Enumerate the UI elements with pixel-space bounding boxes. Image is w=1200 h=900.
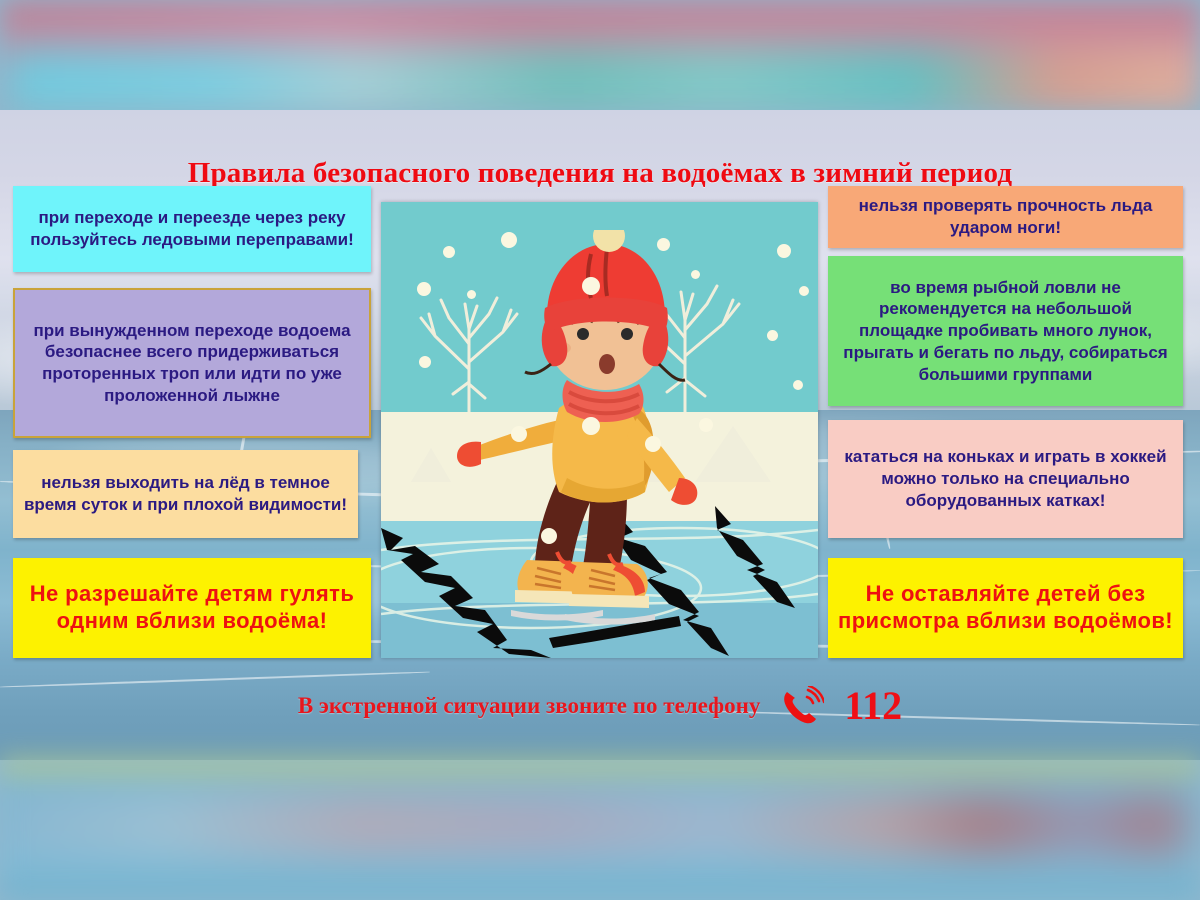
emergency-number: 112: [844, 682, 902, 729]
rule-text: во время рыбной ловли не рекомендуется н…: [838, 277, 1173, 386]
boy-figure: [441, 230, 741, 640]
rule-box-skating-rink: кататься на коньках и играть в хоккей мо…: [828, 420, 1183, 538]
rule-text: при вынужденном переходе водоема безопас…: [25, 320, 359, 407]
snowflake-icon: [793, 380, 803, 390]
emergency-call-line: В экстренной ситуации звоните по телефон…: [0, 682, 1200, 729]
rule-box-ice-crossings: при переходе и переезде через реку польз…: [13, 186, 371, 272]
boy-skating-on-cracking-ice-illustration: [381, 202, 818, 658]
warning-box-children-alone: Не разрешайте детям гулять одним вблизи …: [13, 558, 371, 658]
rule-text: кататься на коньках и играть в хоккей мо…: [838, 446, 1173, 511]
rule-text: нельзя выходить на лёд в темное время су…: [23, 472, 348, 516]
snowflake-icon: [767, 330, 778, 341]
poster-stage: Правила безопасного поведения на водоёма…: [0, 0, 1200, 900]
rule-text: нельзя проверять прочность льда ударом н…: [838, 195, 1173, 239]
rule-box-fishing: во время рыбной ловли не рекомендуется н…: [828, 256, 1183, 406]
blurred-top-letterbox-inner: [0, 46, 1200, 112]
snowflake-icon: [419, 356, 431, 368]
rule-box-forced-crossing: при вынужденном переходе водоема безопас…: [13, 288, 371, 438]
blurred-bottom-letterbox: [0, 760, 1200, 900]
blurred-top-letterbox: [0, 0, 1200, 112]
rule-box-kick-test: нельзя проверять прочность льда ударом н…: [828, 186, 1183, 248]
snowflake-icon: [417, 282, 431, 296]
emergency-text: В экстренной ситуации звоните по телефон…: [298, 693, 761, 719]
phone-ringing-icon: [780, 686, 824, 726]
snowflake-icon: [777, 244, 791, 258]
poster-body: Правила безопасного поведения на водоёма…: [0, 110, 1200, 760]
snowflake-icon: [799, 286, 809, 296]
warning-box-children-unattended: Не оставляйте детей без присмотра вблизи…: [828, 558, 1183, 658]
rule-text: при переходе и переезде через реку польз…: [23, 207, 361, 251]
warning-text: Не оставляйте детей без присмотра вблизи…: [838, 581, 1173, 635]
warning-text: Не разрешайте детям гулять одним вблизи …: [23, 581, 361, 635]
rule-box-dark-hours: нельзя выходить на лёд в темное время су…: [13, 450, 358, 538]
blurred-bottom-letterbox-inner: [0, 794, 1200, 856]
